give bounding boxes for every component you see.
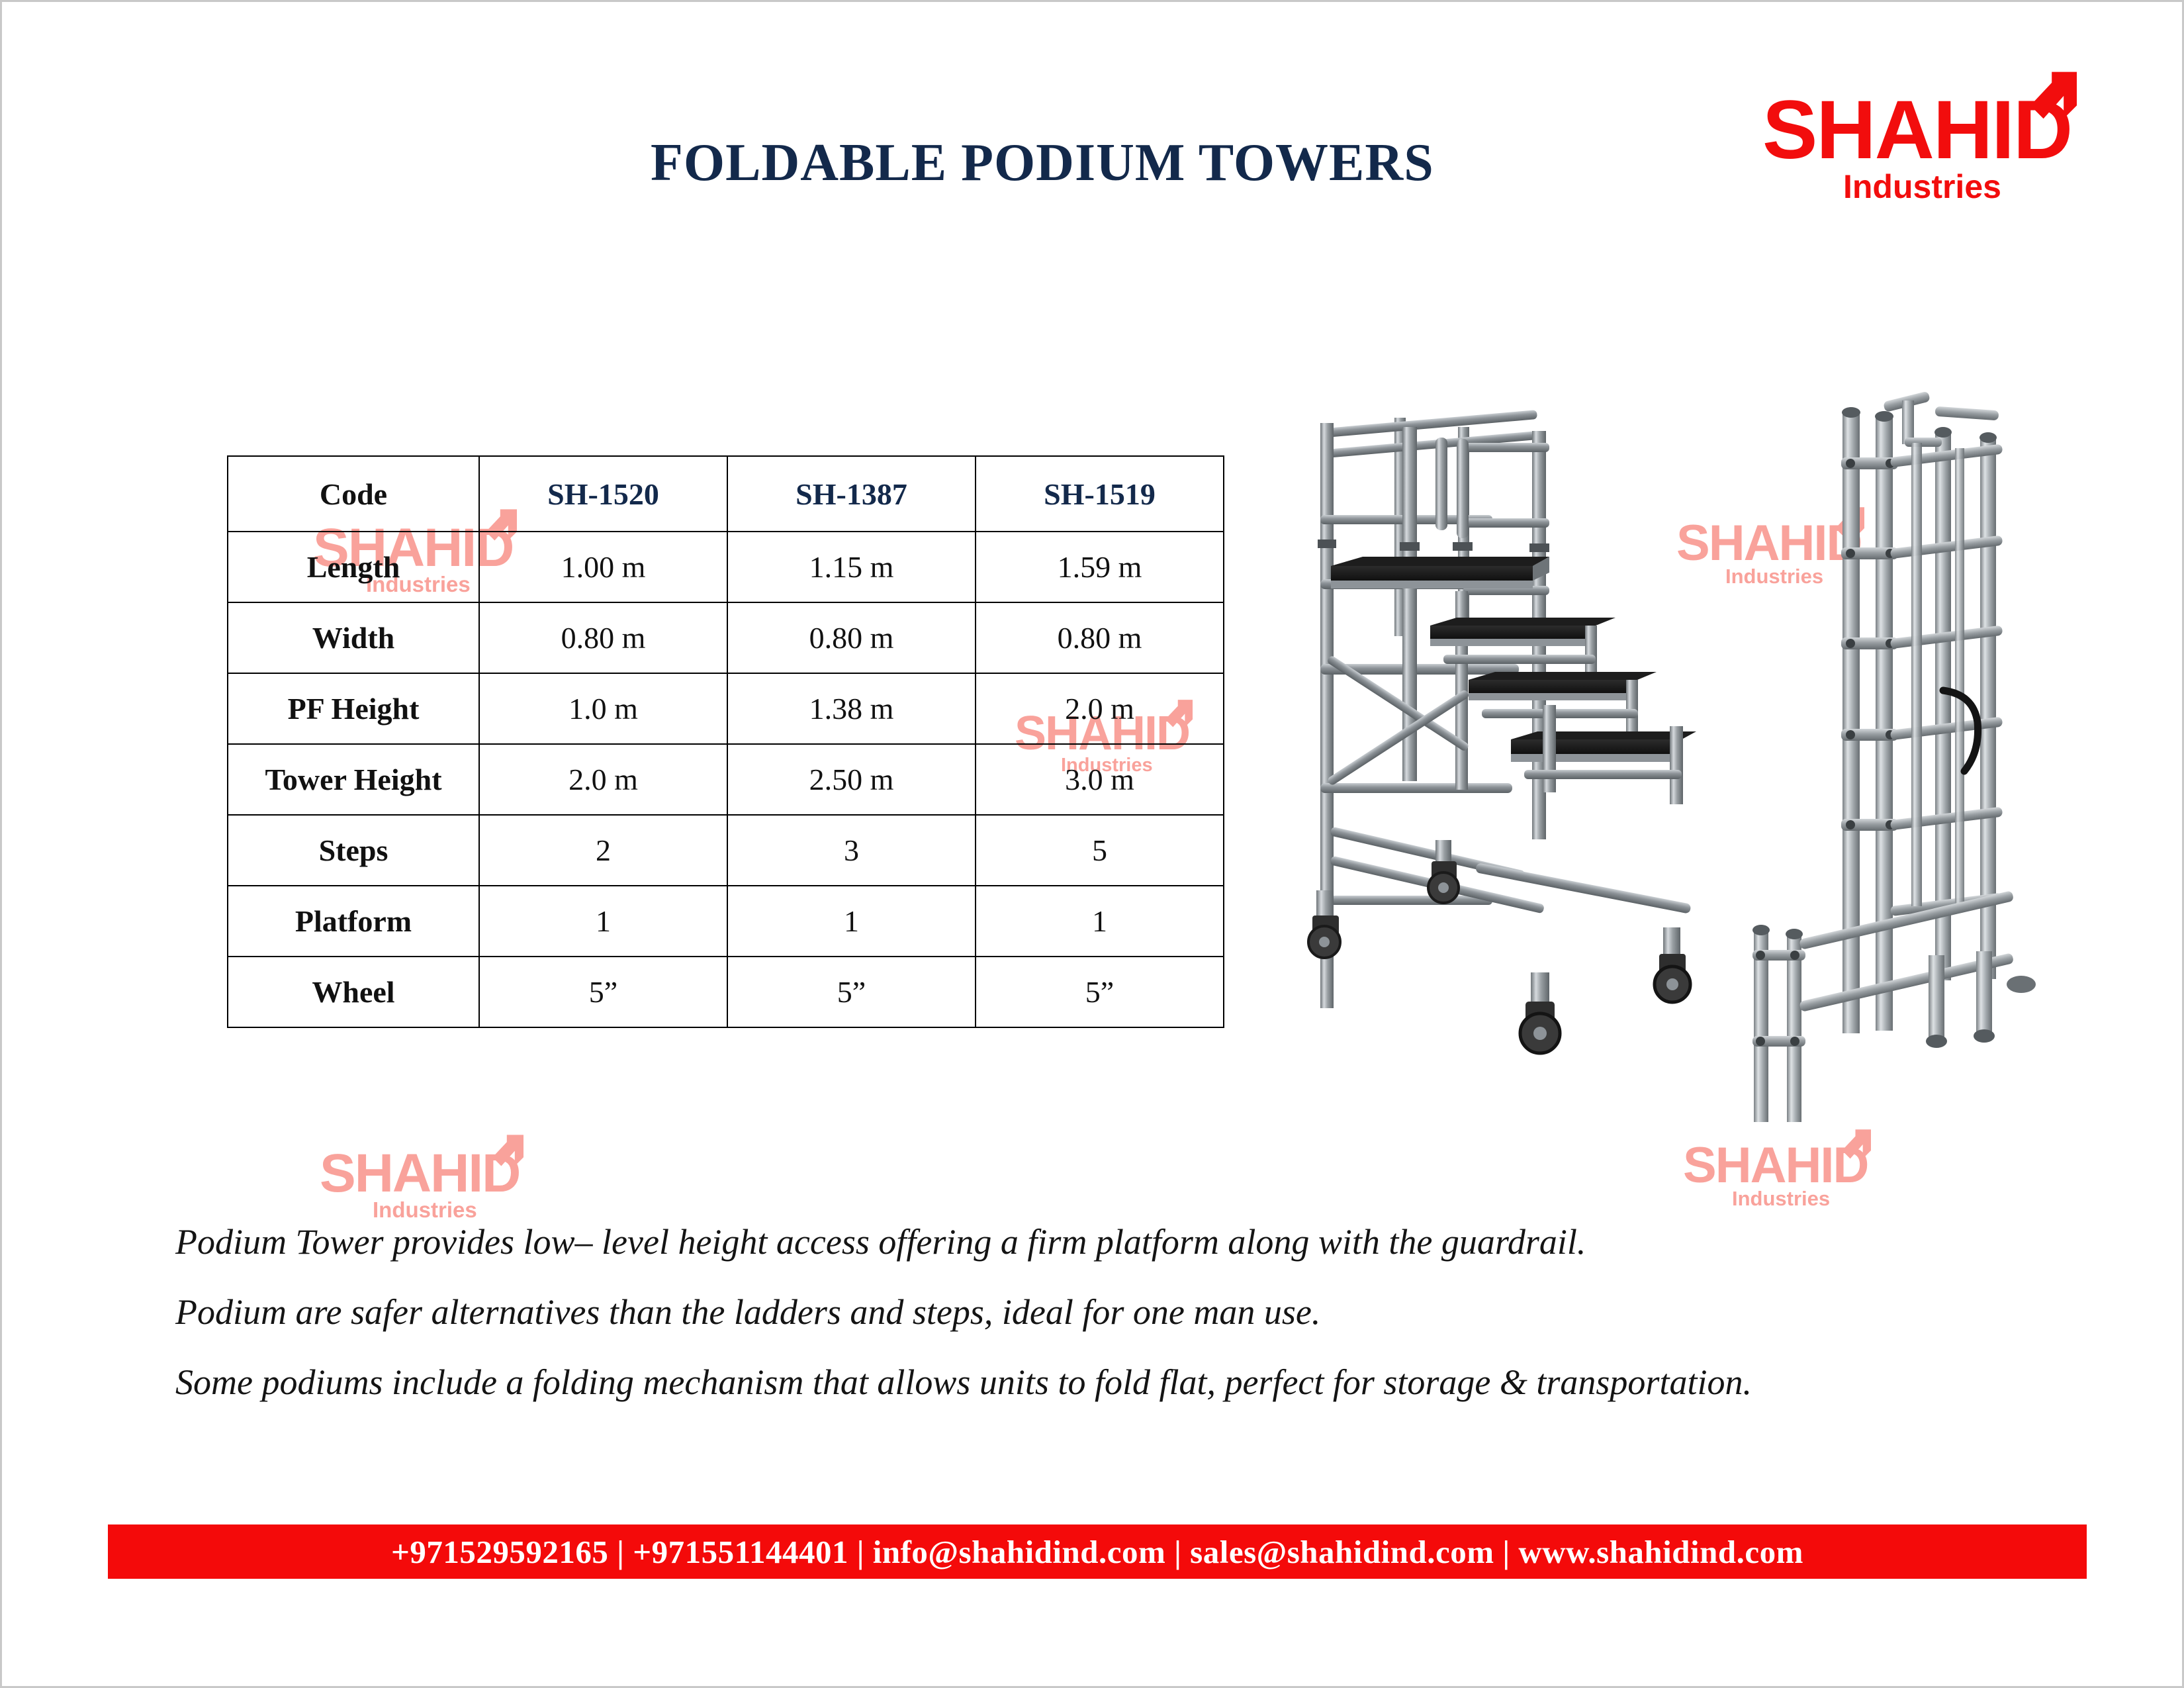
cell-tower-height-sh1387: 2.50 m xyxy=(727,744,976,815)
contact-footer-text: +971529592165 | +971551144401 | info@sha… xyxy=(391,1533,1803,1571)
table-row: Length 1.00 m 1.15 m 1.59 m xyxy=(228,532,1224,602)
cell-pf-height-sh1519: 2.0 m xyxy=(976,673,1224,744)
cell-steps-sh1387: 3 xyxy=(727,815,976,886)
cell-platform-sh1520: 1 xyxy=(479,886,727,957)
specifications-table: Code SH-1520 SH-1387 SH-1519 Length 1.00… xyxy=(227,455,1224,1028)
row-label-platform: Platform xyxy=(228,886,479,957)
cell-width-sh1387: 0.80 m xyxy=(727,602,976,673)
table-row: Wheel 5” 5” 5” xyxy=(228,957,1224,1027)
watermark-wordmark: SHAHID xyxy=(320,1150,520,1197)
table-row: PF Height 1.0 m 1.38 m 2.0 m xyxy=(228,673,1224,744)
arrow-up-right-icon xyxy=(1834,1128,1871,1168)
cell-steps-sh1519: 5 xyxy=(976,815,1224,886)
cell-width-sh1520: 0.80 m xyxy=(479,602,727,673)
watermark-wordmark: SHAHID xyxy=(1683,1144,1868,1187)
cell-pf-height-sh1387: 1.38 m xyxy=(727,673,976,744)
contact-footer-bar: +971529592165 | +971551144401 | info@sha… xyxy=(108,1524,2087,1579)
description-line-3: Some podiums include a folding mechanism… xyxy=(175,1362,1752,1403)
table-header-sh1520: SH-1520 xyxy=(479,456,727,532)
cell-length-sh1520: 1.00 m xyxy=(479,532,727,602)
specifications-table-body: Code SH-1520 SH-1387 SH-1519 Length 1.00… xyxy=(228,456,1224,1027)
cell-pf-height-sh1520: 1.0 m xyxy=(479,673,727,744)
row-label-pf-height: PF Height xyxy=(228,673,479,744)
cell-wheel-sh1520: 5” xyxy=(479,957,727,1027)
cell-length-sh1519: 1.59 m xyxy=(976,532,1224,602)
table-header-code: Code xyxy=(228,456,479,532)
watermark-subtitle: Industries xyxy=(373,1197,520,1223)
cell-steps-sh1520: 2 xyxy=(479,815,727,886)
cell-platform-sh1387: 1 xyxy=(727,886,976,957)
watermark-logo: SHAHID Industries xyxy=(320,1150,520,1223)
table-row: Width 0.80 m 0.80 m 0.80 m xyxy=(228,602,1224,673)
table-row: Steps 2 3 5 xyxy=(228,815,1224,886)
podium-tower-open-photo xyxy=(1246,393,1696,1127)
page-canvas: FOLDABLE PODIUM TOWERS SHAHID Industries… xyxy=(0,0,2184,1688)
row-label-wheel: Wheel xyxy=(228,957,479,1027)
watermark-subtitle: Industries xyxy=(1732,1187,1868,1211)
description-line-1: Podium Tower provides low– level height … xyxy=(175,1221,1586,1262)
description-line-2: Podium are safer alternatives than the l… xyxy=(175,1291,1320,1333)
page-title: FOLDABLE PODIUM TOWERS xyxy=(651,133,1434,193)
table-header-sh1387: SH-1387 xyxy=(727,456,976,532)
table-header-sh1519: SH-1519 xyxy=(976,456,1224,532)
row-label-width: Width xyxy=(228,602,479,673)
cell-tower-height-sh1519: 3.0 m xyxy=(976,744,1224,815)
podium-tower-folded-photo xyxy=(1713,379,2070,1127)
arrow-up-right-icon xyxy=(2017,70,2077,133)
cell-width-sh1519: 0.80 m xyxy=(976,602,1224,673)
arrow-up-right-icon xyxy=(484,1133,523,1176)
cell-length-sh1387: 1.15 m xyxy=(727,532,976,602)
brand-logo: SHAHID Industries xyxy=(1762,95,2071,206)
watermark-logo: SHAHID Industries xyxy=(1683,1144,1868,1211)
cell-wheel-sh1387: 5” xyxy=(727,957,976,1027)
cell-platform-sh1519: 1 xyxy=(976,886,1224,957)
row-label-length: Length xyxy=(228,532,479,602)
cell-tower-height-sh1520: 2.0 m xyxy=(479,744,727,815)
cell-wheel-sh1519: 5” xyxy=(976,957,1224,1027)
row-label-steps: Steps xyxy=(228,815,479,886)
row-label-tower-height: Tower Height xyxy=(228,744,479,815)
table-row: Tower Height 2.0 m 2.50 m 3.0 m xyxy=(228,744,1224,815)
table-row: Platform 1 1 1 xyxy=(228,886,1224,957)
table-header-row: Code SH-1520 SH-1387 SH-1519 xyxy=(228,456,1224,532)
